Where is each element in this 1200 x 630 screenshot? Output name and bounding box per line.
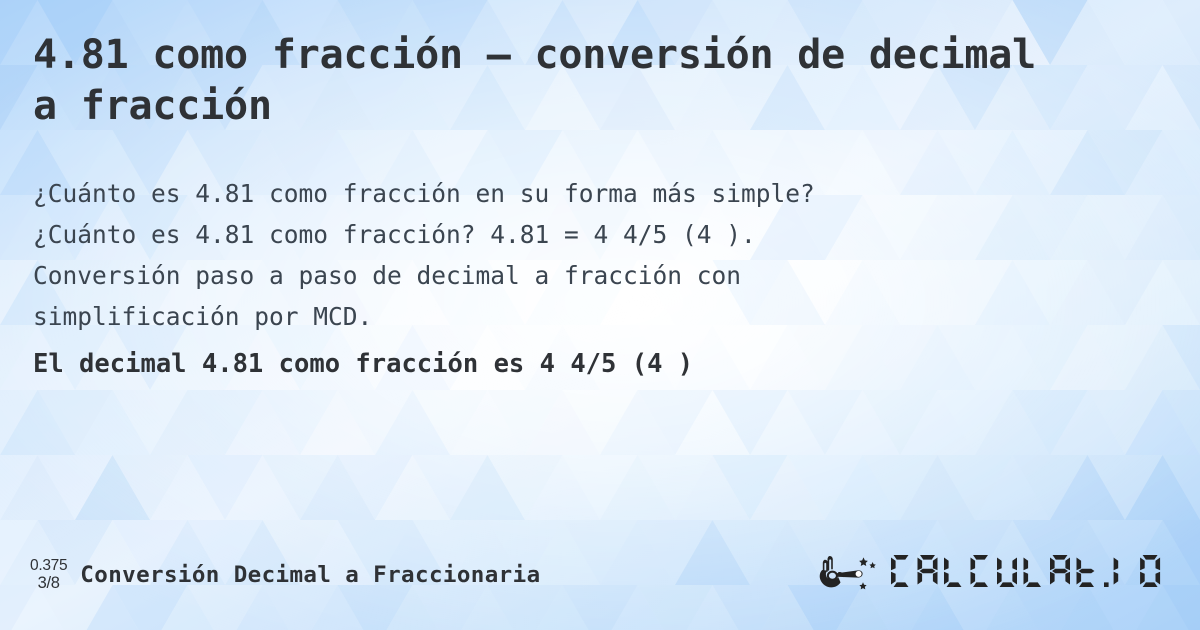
fraction-numerator: 0.375 (30, 558, 67, 575)
description-line-1: ¿Cuánto es 4.81 como fracción en su form… (33, 173, 1093, 214)
fraction-denominator: 3/8 (30, 575, 67, 593)
description-line-2: ¿Cuánto es 4.81 como fracción? 4.81 = 4 … (33, 214, 1093, 255)
description-block: ¿Cuánto es 4.81 como fracción en su form… (33, 173, 1093, 337)
site-logo-wordmark: CALCULAT.IO (889, 555, 1184, 595)
site-logo[interactable]: CALCULAT.IO (819, 540, 1184, 610)
brand-left-group: 0.375 3/8 Conversión Decimal a Fracciona… (30, 540, 541, 610)
answer-statement: El decimal 4.81 como fracción es 4 4/5 (… (33, 345, 1133, 383)
page-title: 4.81 como fracción – conversión de decim… (33, 30, 1063, 132)
fraction-example-icon: 0.375 3/8 (30, 557, 67, 593)
card-footer: 0.375 3/8 Conversión Decimal a Fracciona… (0, 540, 1200, 610)
hand-magic-wand-icon (819, 552, 881, 598)
brand-label: Conversión Decimal a Fraccionaria (80, 562, 540, 588)
card-content: 4.81 como fracción – conversión de decim… (0, 0, 1200, 630)
description-line-3: Conversión paso a paso de decimal a frac… (33, 255, 1093, 296)
description-line-4: simplificación por MCD. (33, 296, 1093, 337)
